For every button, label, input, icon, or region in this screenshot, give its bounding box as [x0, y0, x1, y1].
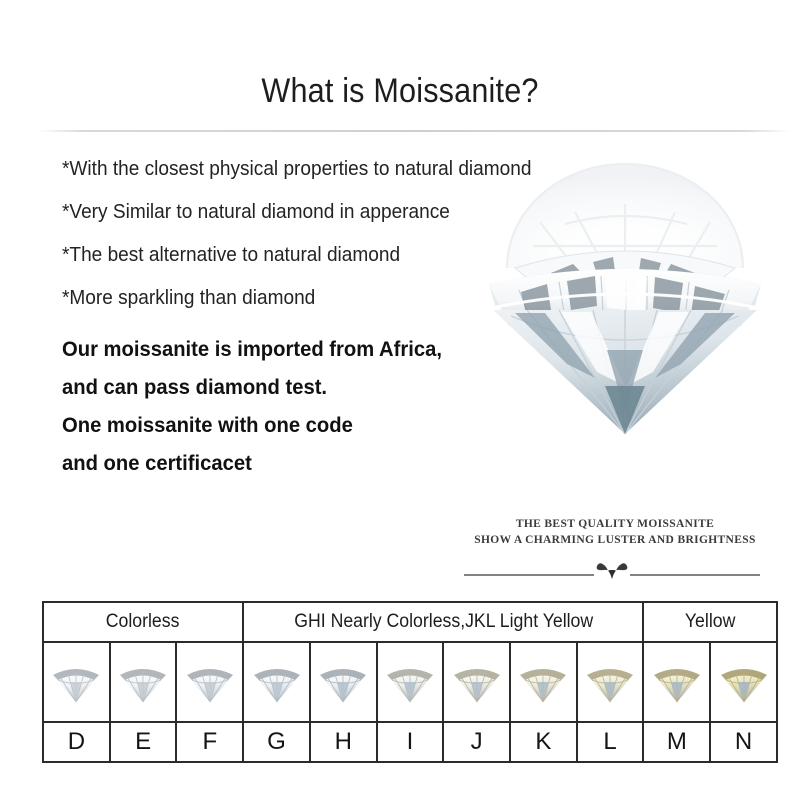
- diamond-gem-icon: [718, 660, 770, 704]
- gem-cell-i: [377, 642, 444, 722]
- gem-cell-m: [643, 642, 710, 722]
- statement-block: Our moissanite is imported from Africa, …: [62, 330, 532, 482]
- diamond-gem-icon: [384, 660, 436, 704]
- color-grade-table: Colorless GHI Nearly Colorless,JKL Light…: [42, 601, 778, 763]
- list-item: *Very Similar to natural diamond in appe…: [62, 190, 583, 233]
- grade-letter-h: H: [310, 722, 377, 762]
- diamond-gem-icon: [317, 660, 369, 704]
- flourish-ornament-icon: [462, 558, 762, 580]
- table-row-group-headers: Colorless GHI Nearly Colorless,JKL Light…: [43, 602, 777, 642]
- grade-letter-e: E: [110, 722, 177, 762]
- diamond-gem-icon: [584, 660, 636, 704]
- statement-line: One moissanite with one code: [62, 406, 504, 444]
- statement-line: and can pass diamond test.: [62, 368, 504, 406]
- statement-line: and one certificacet: [62, 444, 504, 482]
- group-header-yellow: Yellow: [643, 602, 777, 642]
- diamond-gem-icon: [251, 660, 303, 704]
- grade-letter-d: D: [43, 722, 110, 762]
- diamond-gem-icon: [184, 660, 236, 704]
- list-item: *The best alternative to natural diamond: [62, 233, 583, 276]
- diamond-gem-icon: [517, 660, 569, 704]
- group-header-colorless: Colorless: [43, 602, 243, 642]
- title-divider: [38, 130, 790, 132]
- grade-letter-n: N: [710, 722, 777, 762]
- gem-cell-d: [43, 642, 110, 722]
- grade-letter-m: M: [643, 722, 710, 762]
- group-header-nearly-colorless: GHI Nearly Colorless,JKL Light Yellow: [243, 602, 643, 642]
- grade-letter-j: J: [443, 722, 510, 762]
- statement-line: Our moissanite is imported from Africa,: [62, 330, 504, 368]
- diamond-gem-icon: [451, 660, 503, 704]
- table-row-grade-letters: D E F G H I J K L M N: [43, 722, 777, 762]
- gem-cell-e: [110, 642, 177, 722]
- moissanite-infographic: What is Moissanite?: [0, 0, 800, 800]
- diamond-gem-icon: [651, 660, 703, 704]
- grade-letter-f: F: [176, 722, 243, 762]
- page-title: What is Moissanite?: [40, 72, 760, 111]
- gem-cell-n: [710, 642, 777, 722]
- gem-cell-g: [243, 642, 310, 722]
- grade-letter-l: L: [577, 722, 644, 762]
- gem-cell-j: [443, 642, 510, 722]
- caption-line-1: THE BEST QUALITY MOISSANITE: [455, 516, 775, 532]
- gem-cell-k: [510, 642, 577, 722]
- diamond-gem-icon: [117, 660, 169, 704]
- table-row-gems: [43, 642, 777, 722]
- caption-line-2: SHOW A CHARMING LUSTER AND BRIGHTNESS: [455, 532, 775, 548]
- gem-cell-l: [577, 642, 644, 722]
- list-item: *With the closest physical properties to…: [62, 147, 583, 190]
- list-item: *More sparkling than diamond: [62, 276, 583, 319]
- gem-cell-h: [310, 642, 377, 722]
- grade-letter-k: K: [510, 722, 577, 762]
- gem-cell-f: [176, 642, 243, 722]
- grade-letter-g: G: [243, 722, 310, 762]
- quality-caption: THE BEST QUALITY MOISSANITE SHOW A CHARM…: [455, 516, 775, 548]
- diamond-gem-icon: [50, 660, 102, 704]
- grade-letter-i: I: [377, 722, 444, 762]
- feature-list: *With the closest physical properties to…: [62, 147, 622, 319]
